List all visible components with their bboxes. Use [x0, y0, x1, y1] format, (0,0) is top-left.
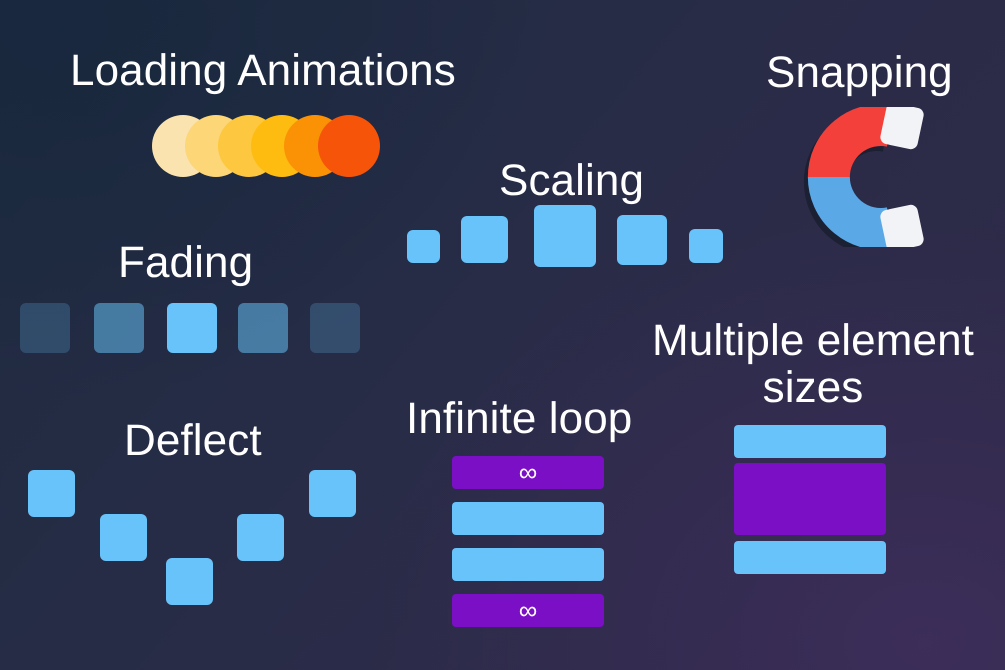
multi-title-line-1: Multiple element: [652, 316, 974, 365]
loading-animations-title: Loading Animations: [70, 48, 456, 95]
fading-square: [238, 303, 288, 353]
deflect-square: [28, 470, 75, 517]
infinite-loop-bar: ∞: [452, 594, 604, 627]
multiple-sizes-bar: [734, 463, 886, 535]
deflect-square: [166, 558, 213, 605]
fading-title: Fading: [118, 240, 253, 287]
scaling-squares-group: [400, 205, 740, 280]
deflect-squares-group: [28, 470, 368, 605]
scaling-square: [407, 230, 440, 263]
infinity-icon: ∞: [519, 459, 538, 485]
deflect-square: [237, 514, 284, 561]
infinite-loop-title: Infinite loop: [406, 396, 632, 443]
multiple-sizes-bar: [734, 541, 886, 574]
scaling-square: [689, 229, 723, 263]
infinite-loop-bar: ∞: [452, 456, 604, 489]
scaling-square: [461, 216, 508, 263]
fading-square: [167, 303, 217, 353]
scaling-title: Scaling: [499, 158, 644, 205]
poster-canvas: Loading Animations Snapping: [0, 0, 1005, 670]
fading-square: [94, 303, 144, 353]
deflect-square: [100, 514, 147, 561]
fading-square: [310, 303, 360, 353]
multiple-sizes-bars-group: [734, 425, 886, 580]
infinite-loop-bars-group: ∞∞: [452, 456, 604, 628]
snapping-title: Snapping: [766, 50, 953, 97]
multiple-element-sizes-title: Multiple element sizes: [637, 318, 989, 411]
loading-dots-group: [152, 115, 380, 177]
scaling-square: [534, 205, 596, 267]
fading-square: [20, 303, 70, 353]
horseshoe-magnet-icon: [779, 107, 931, 247]
infinite-loop-bar: [452, 548, 604, 581]
infinite-loop-bar: [452, 502, 604, 535]
multiple-sizes-bar: [734, 425, 886, 458]
infinity-icon: ∞: [519, 597, 538, 623]
fading-squares-group: [20, 303, 380, 355]
loading-dot: [318, 115, 380, 177]
deflect-square: [309, 470, 356, 517]
scaling-square: [617, 215, 667, 265]
multi-title-line-2: sizes: [763, 363, 864, 412]
deflect-title: Deflect: [124, 418, 262, 465]
